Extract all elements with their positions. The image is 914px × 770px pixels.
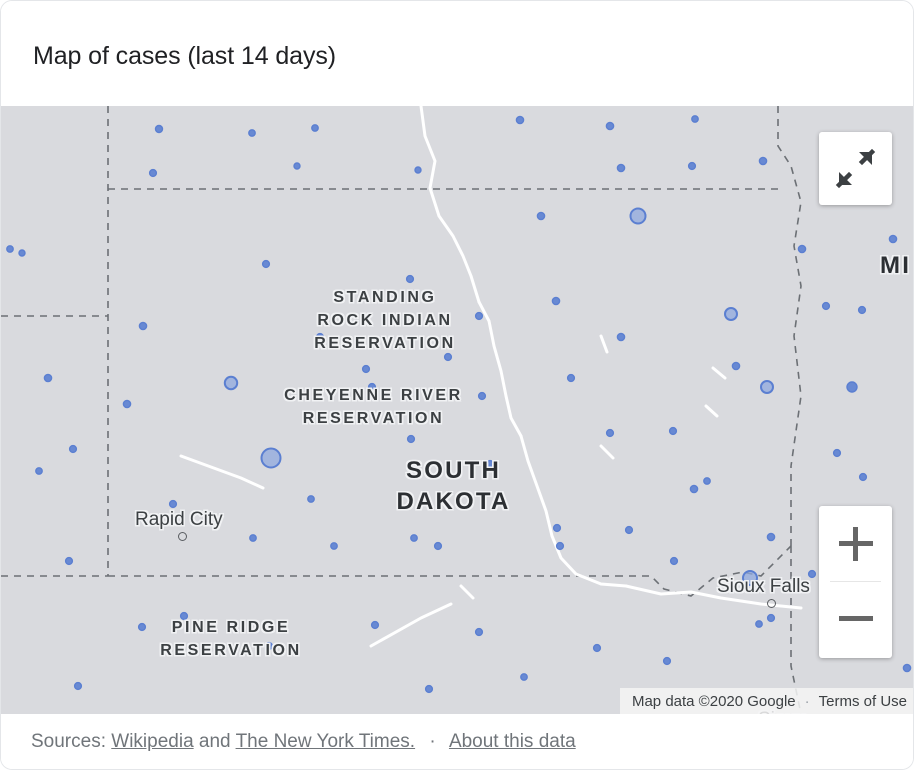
case-dot[interactable]: [44, 374, 51, 381]
case-dot[interactable]: [75, 683, 82, 690]
map-data-credit: Map data ©2020 Google: [632, 693, 796, 710]
case-dot[interactable]: [761, 381, 773, 393]
terms-of-use-link[interactable]: Terms of Use: [819, 693, 907, 710]
map-attribution-bar: Map data ©2020 Google · Terms of Use: [620, 688, 914, 714]
case-dot[interactable]: [692, 116, 698, 122]
case-dot[interactable]: [123, 400, 130, 407]
case-dot[interactable]: [768, 615, 775, 622]
case-dot[interactable]: [476, 629, 483, 636]
case-dot[interactable]: [139, 322, 146, 329]
case-dot[interactable]: [372, 622, 379, 629]
case-dot[interactable]: [671, 558, 678, 565]
case-dot[interactable]: [426, 686, 433, 693]
case-dot[interactable]: [19, 250, 25, 256]
case-dot[interactable]: [847, 382, 857, 392]
case-dot[interactable]: [607, 430, 614, 437]
label-minnesota: MI: [880, 252, 911, 280]
case-dot[interactable]: [834, 450, 841, 457]
case-dot[interactable]: [594, 645, 601, 652]
case-dot[interactable]: [415, 167, 421, 173]
case-dot[interactable]: [823, 303, 830, 310]
case-dot[interactable]: [617, 333, 624, 340]
sources-line: Sources: Wikipedia and The New York Time…: [1, 731, 576, 753]
case-dot[interactable]: [331, 543, 337, 549]
case-dot[interactable]: [903, 664, 910, 671]
zoom-out-button[interactable]: [819, 581, 892, 656]
case-dot[interactable]: [170, 501, 177, 508]
case-dot[interactable]: [631, 209, 646, 224]
case-dot[interactable]: [435, 543, 442, 550]
river-lines: [181, 106, 801, 646]
case-dot[interactable]: [557, 543, 564, 550]
case-dot[interactable]: [308, 496, 314, 502]
sources-conjunction: and: [199, 731, 231, 752]
plus-icon-vertical: [853, 527, 858, 561]
case-dot[interactable]: [759, 157, 766, 164]
case-dot[interactable]: [312, 125, 318, 131]
label-south-dakota: SOUTH DAKOTA: [381, 455, 526, 517]
case-dot[interactable]: [767, 533, 774, 540]
case-dot[interactable]: [554, 525, 561, 532]
case-dot[interactable]: [732, 362, 739, 369]
case-dot[interactable]: [670, 428, 677, 435]
case-dot[interactable]: [889, 235, 896, 242]
case-dot[interactable]: [664, 658, 671, 665]
case-dot[interactable]: [756, 621, 762, 627]
case-dot[interactable]: [150, 170, 157, 177]
case-dot[interactable]: [294, 163, 300, 169]
case-dot[interactable]: [617, 164, 624, 171]
case-dot[interactable]: [249, 130, 255, 136]
map-canvas[interactable]: STANDING ROCK INDIAN RESERVATION CHEYENN…: [1, 106, 914, 714]
case-dot[interactable]: [690, 485, 697, 492]
case-dot[interactable]: [537, 212, 544, 219]
label-cheyenne-river-reservation: CHEYENNE RIVER RESERVATION: [241, 384, 506, 430]
case-dot[interactable]: [250, 535, 256, 541]
case-dot[interactable]: [626, 527, 633, 534]
card-footer: Sources: Wikipedia and The New York Time…: [1, 714, 914, 770]
about-this-data-link[interactable]: About this data: [449, 731, 576, 752]
label-rapid-city: Rapid City: [135, 509, 223, 531]
case-dot[interactable]: [263, 261, 270, 268]
page-title: Map of cases (last 14 days): [33, 42, 336, 71]
label-sioux-falls: Sioux Falls: [717, 576, 810, 598]
nyt-link[interactable]: The New York Times.: [236, 731, 416, 752]
case-dot[interactable]: [262, 449, 281, 468]
case-dot[interactable]: [7, 246, 13, 252]
map-card: Map of cases (last 14 days): [0, 0, 914, 770]
case-dot[interactable]: [725, 308, 737, 320]
case-dot[interactable]: [516, 116, 523, 123]
attribution-separator: ·: [805, 693, 810, 710]
case-dot[interactable]: [36, 468, 42, 474]
case-dot[interactable]: [568, 375, 575, 382]
case-dot[interactable]: [70, 446, 77, 453]
case-dot[interactable]: [859, 307, 866, 314]
city-marker-rapid-city[interactable]: [178, 532, 187, 541]
label-pine-ridge-reservation: PINE RIDGE RESERVATION: [121, 616, 341, 662]
zoom-in-button[interactable]: [819, 506, 892, 581]
case-dot[interactable]: [521, 674, 527, 680]
case-dot[interactable]: [552, 297, 559, 304]
minus-icon: [839, 616, 873, 621]
case-dot[interactable]: [363, 366, 370, 373]
label-standing-rock-reservation: STANDING ROCK INDIAN RESERVATION: [263, 286, 507, 355]
case-dot[interactable]: [408, 436, 415, 443]
fullscreen-icon: [819, 132, 892, 205]
city-marker-sioux-falls[interactable]: [767, 599, 776, 608]
card-header: Map of cases (last 14 days): [1, 1, 914, 106]
case-dot[interactable]: [689, 163, 696, 170]
footer-separator: ·: [429, 731, 435, 752]
case-dot[interactable]: [798, 245, 805, 252]
wikipedia-link[interactable]: Wikipedia: [111, 731, 193, 752]
case-dot[interactable]: [704, 478, 710, 484]
case-dot[interactable]: [411, 535, 417, 541]
case-dot[interactable]: [156, 126, 163, 133]
sources-prefix: Sources:: [31, 731, 106, 752]
case-dot[interactable]: [66, 558, 73, 565]
case-dot[interactable]: [860, 474, 867, 481]
case-dot[interactable]: [225, 377, 237, 389]
case-dot[interactable]: [407, 276, 414, 283]
case-dot[interactable]: [606, 122, 613, 129]
zoom-controls: [819, 506, 892, 658]
fullscreen-button[interactable]: [819, 132, 892, 205]
